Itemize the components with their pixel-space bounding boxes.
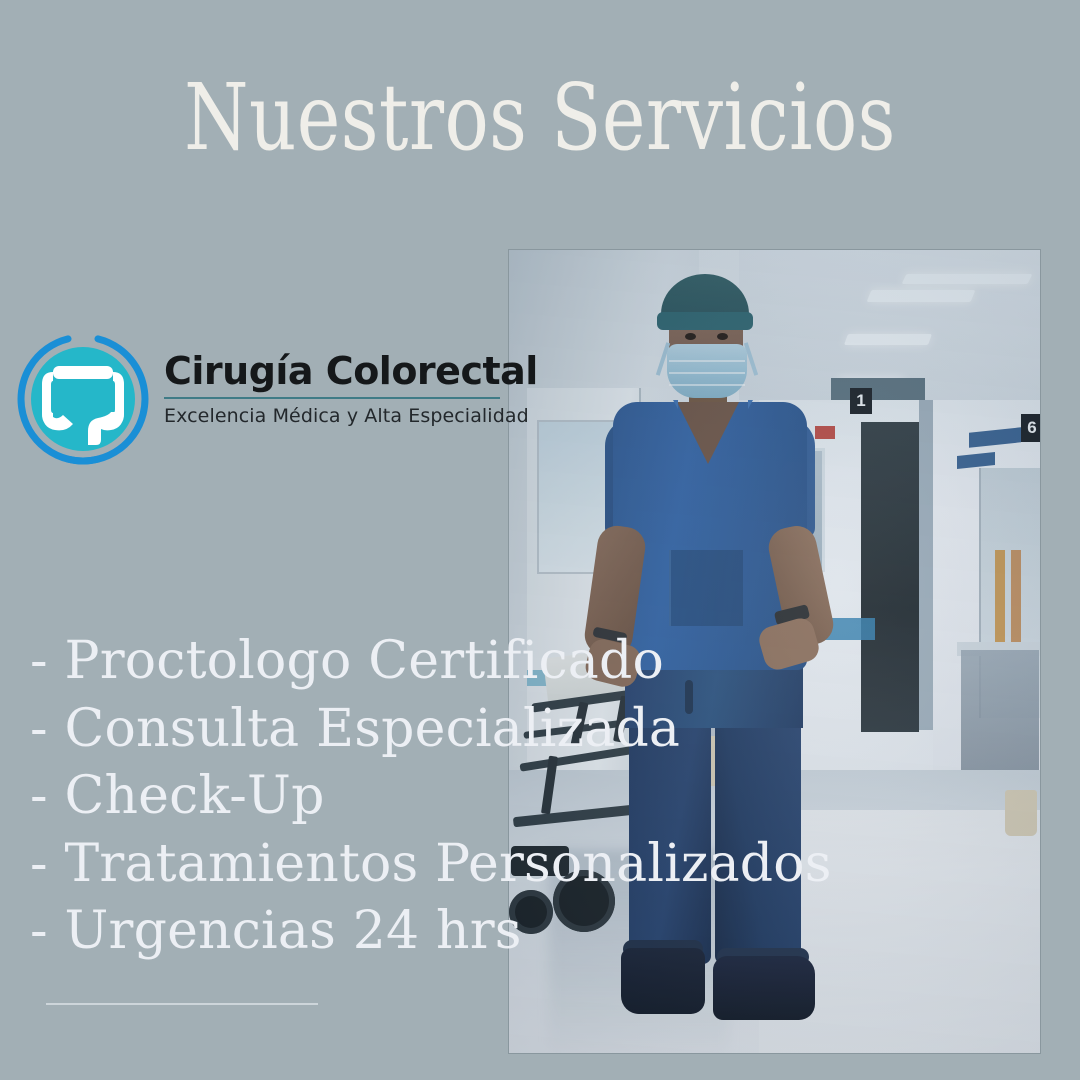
services-underline-rule (46, 1003, 318, 1005)
brand-divider (164, 397, 500, 399)
brand-logo: Cirugía Colorectal Excelencia Médica y A… (12, 328, 492, 476)
page-title: Nuestros Servicios (108, 72, 972, 164)
service-item: - Check-Up (30, 763, 1050, 831)
service-item: - Urgencias 24 hrs (30, 898, 1050, 966)
brand-tagline: Excelencia Médica y Alta Especialidad (164, 406, 504, 427)
service-item: - Proctologo Certificado (30, 628, 1050, 696)
brand-wordmark-group: Cirugía Colorectal Excelencia Médica y A… (164, 352, 504, 427)
service-item: - Consulta Especializada (30, 696, 1050, 764)
poster-canvas: Nuestros Servicios 1 6 (0, 0, 1080, 1080)
service-item: - Tratamientos Personalizados (30, 831, 1050, 899)
services-list: - Proctologo Certificado - Consulta Espe… (30, 628, 1050, 966)
colon-intestine-icon (12, 328, 154, 470)
brand-name: Cirugía Colorectal (164, 352, 504, 392)
